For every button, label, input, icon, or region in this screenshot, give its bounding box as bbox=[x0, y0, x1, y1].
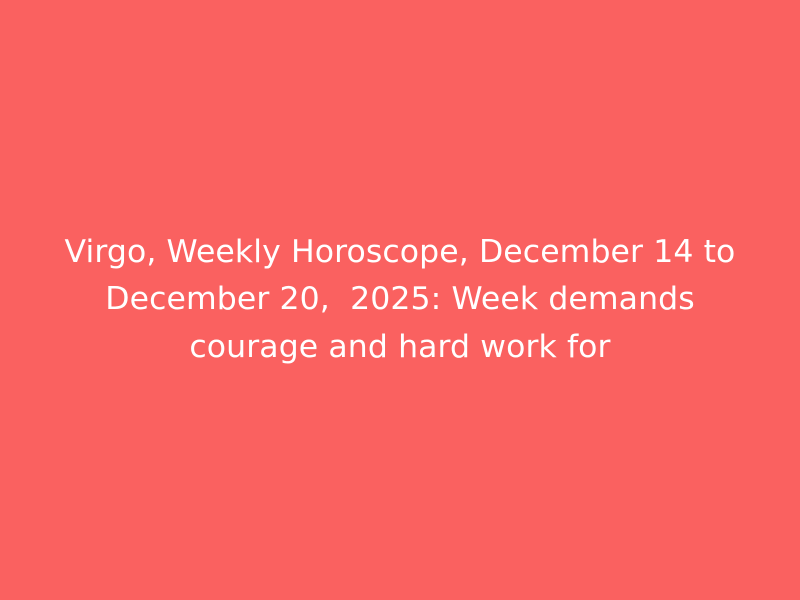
headline-title: Virgo, Weekly Horoscope, December 14 to … bbox=[40, 229, 760, 372]
horoscope-placeholder-card: Virgo, Weekly Horoscope, December 14 to … bbox=[0, 0, 800, 600]
headline-block: Virgo, Weekly Horoscope, December 14 to … bbox=[40, 229, 760, 372]
